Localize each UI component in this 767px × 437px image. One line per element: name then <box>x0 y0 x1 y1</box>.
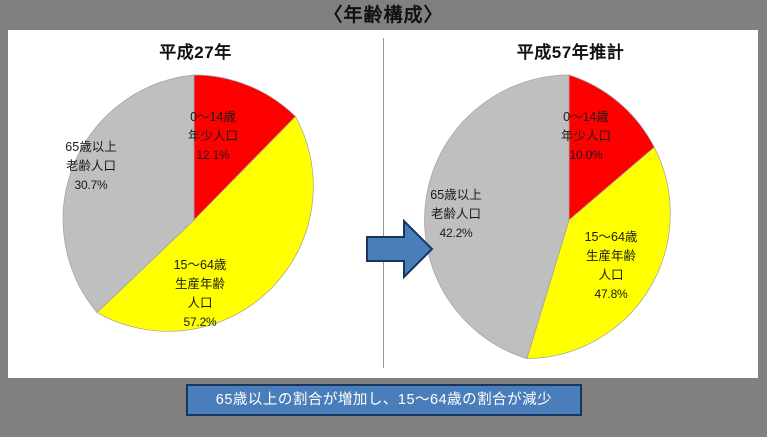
chart-right-pie-area: 0〜14歳 年少人口 10.0% 65歳以上 老齢人口 42.2% 15〜64歳… <box>383 70 758 375</box>
pie-chart-left <box>41 70 351 370</box>
chart-left-pie-area: 0〜14歳 年少人口 12.1% 65歳以上 老齢人口 30.7% 15〜64歳… <box>8 70 383 375</box>
caption-banner: 65歳以上の割合が増加し、15〜64歳の割合が減少 <box>186 384 582 416</box>
chart-left: 平成27年 0〜14歳 年少人口 12.1% 65歳以上 老齢人口 30.7% … <box>8 30 383 378</box>
chart-right-title: 平成57年推計 <box>383 38 758 63</box>
pie-chart-right <box>416 70 726 370</box>
chart-right: 平成57年推計 0〜14歳 年少人口 10.0% 65歳以上 老齢人口 42.2… <box>383 30 758 378</box>
chart-left-title: 平成27年 <box>8 38 383 63</box>
page-title: 〈年齢構成〉 <box>0 2 767 29</box>
right-arrow-icon <box>366 216 434 282</box>
chart-panel: 平成27年 0〜14歳 年少人口 12.1% 65歳以上 老齢人口 30.7% … <box>8 30 758 378</box>
